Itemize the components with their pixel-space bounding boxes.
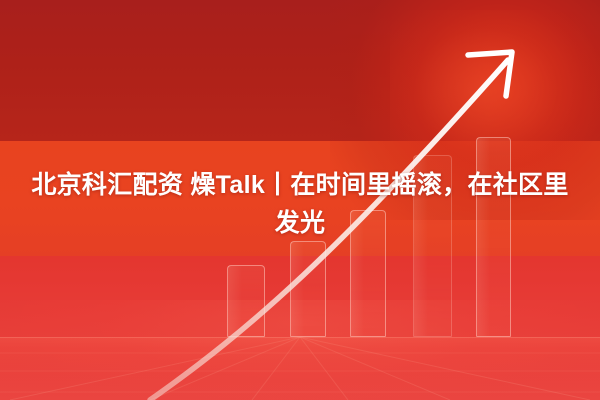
background-band-bottom: [0, 256, 600, 400]
background-band-top: [0, 0, 600, 141]
promo-banner: 北京科汇配资 燥Talk丨在时间里摇滚，在社区里 发光: [0, 0, 600, 400]
banner-title: 北京科汇配资 燥Talk丨在时间里摇滚，在社区里 发光: [0, 166, 600, 242]
